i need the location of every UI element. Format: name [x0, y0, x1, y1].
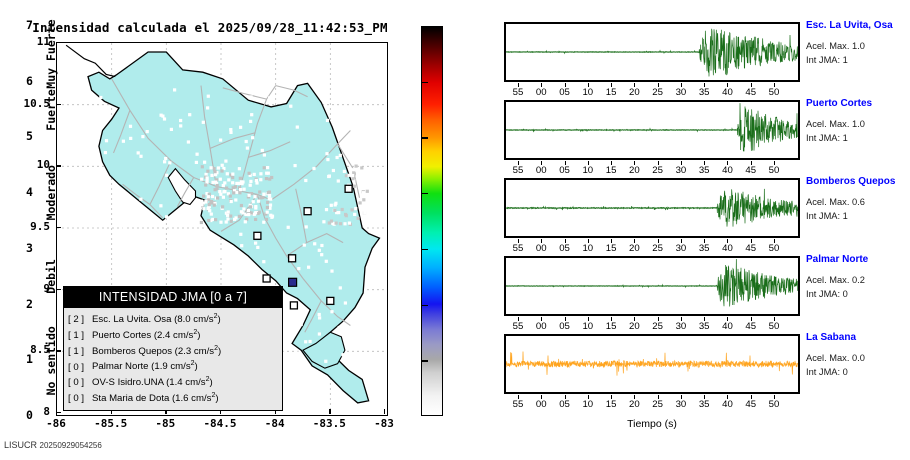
time-axis-label: Tiempo (s): [504, 418, 800, 430]
map-x-tick-label: -83.5: [299, 417, 359, 430]
station-accel-max: Acel. Max. 0.0: [806, 351, 910, 365]
waveform-panel[interactable]: [504, 334, 800, 394]
waveform-time-axis: 550005101520253035404550: [504, 239, 800, 255]
legend-station-list: [ 2 ]Esc. La Uvita. Osa (8.0 cm/s2)[ 1 ]…: [64, 308, 282, 410]
station-int-jma: Int JMA: 1: [806, 131, 910, 145]
station-accel-max: Acel. Max. 1.0: [806, 39, 910, 53]
legend-row: [ 0 ]Palmar Norte (1.9 cm/s2): [68, 358, 280, 374]
colorbar-tick-label: 5: [26, 129, 33, 143]
station-name[interactable]: Palmar Norte: [806, 253, 910, 266]
legend-title: INTENSIDAD JMA [0 a 7]: [64, 287, 282, 308]
map-x-tick-label: -84.5: [190, 417, 250, 430]
waveform-tick-label: 50: [759, 399, 789, 410]
station-accel-max: Acel. Max. 0.2: [806, 273, 910, 287]
waveform-time-axis: 550005101520253035404550: [504, 395, 800, 411]
station-name[interactable]: La Sabana: [806, 331, 910, 344]
legend-station-name: Sta Maria de Dota (1.6 cm/s: [92, 393, 211, 404]
colorbar-tick-mark: [421, 82, 428, 83]
waveform-trace: [506, 180, 798, 236]
station-info: Palmar NorteAcel. Max. 0.2Int JMA: 0: [806, 253, 910, 301]
station-int-jma: Int JMA: 1: [806, 53, 910, 67]
map-y-tick-label: 10: [2, 158, 50, 171]
colorbar-tick-label: 1: [26, 352, 33, 366]
station-name[interactable]: Bomberos Quepos: [806, 175, 910, 188]
waveform-panel[interactable]: [504, 178, 800, 238]
waveform-panel[interactable]: [504, 256, 800, 316]
legend-station-name: Puerto Cortes (2.4 cm/s: [92, 330, 193, 341]
map-x-tick-label: -83: [354, 417, 414, 430]
legend-paren: ): [197, 330, 200, 341]
colorbar-category-label: Fuerte: [44, 82, 58, 138]
colorbar-category-label: No sentido: [44, 305, 58, 416]
waveform-time-axis: 550005101520253035404550: [504, 83, 800, 99]
colorbar-tick-label: 2: [26, 297, 33, 311]
waveform-panel[interactable]: [504, 22, 800, 82]
map-x-tick-label: -85: [135, 417, 195, 430]
waveform-trace: [506, 336, 798, 392]
legend-level: [ 1 ]: [68, 330, 92, 343]
legend-level: [ 1 ]: [68, 346, 92, 359]
colorbar-tick-label: 3: [26, 241, 33, 255]
map-y-tick-label: 11: [2, 35, 50, 48]
map-x-tick-label: -85.5: [81, 417, 141, 430]
station-info: Esc. La Uvita, OsaAcel. Max. 1.0Int JMA:…: [806, 19, 910, 67]
legend-row: [ 1 ]Bomberos Quepos (2.3 cm/s2): [68, 343, 280, 359]
legend-level: [ 0 ]: [68, 377, 92, 390]
intensity-legend: INTENSIDAD JMA [0 a 7] [ 2 ]Esc. La Uvit…: [63, 286, 283, 411]
legend-station-name: Palmar Norte (1.9 cm/s: [92, 362, 191, 373]
station-accel-max: Acel. Max. 1.0: [806, 117, 910, 131]
legend-row: [ 2 ]Esc. La Uvita. Osa (8.0 cm/s2): [68, 311, 280, 327]
colorbar-tick-label: 0: [26, 408, 33, 422]
waveform-time-axis: 550005101520253035404550: [504, 161, 800, 177]
waveform-panel[interactable]: [504, 100, 800, 160]
map-x-tick-label: -86: [26, 417, 86, 430]
legend-paren: ): [215, 393, 218, 404]
colorbar-tick-mark: [421, 360, 428, 361]
map-x-tick-mark: [329, 409, 330, 414]
intensity-colorbar: [421, 26, 443, 416]
page-title: Intensidad calculada el 2025/09/28_11:42…: [0, 20, 420, 35]
waveform-tick-label: 50: [759, 165, 789, 176]
watermark-source: LISUCR: [4, 440, 37, 450]
station-name[interactable]: Puerto Cortes: [806, 97, 910, 110]
station-info: Puerto CortesAcel. Max. 1.0Int JMA: 1: [806, 97, 910, 145]
colorbar-gradient: [421, 26, 443, 416]
watermark-id: 20250929054256: [40, 441, 102, 450]
waveform-tick-label: 50: [759, 321, 789, 332]
waveform-trace: [506, 258, 798, 314]
watermark: LISUCR 20250929054256: [4, 440, 102, 450]
colorbar-tick-label: 7: [26, 18, 33, 32]
legend-paren: ): [209, 377, 212, 388]
map-y-tick-label: 9: [2, 282, 50, 295]
station-int-jma: Int JMA: 0: [806, 365, 910, 379]
colorbar-tick-mark: [421, 193, 428, 194]
map-x-tick-mark: [384, 409, 385, 414]
map-y-tick-label: 9.5: [2, 220, 50, 233]
station-int-jma: Int JMA: 1: [806, 209, 910, 223]
waveform-trace: [506, 24, 798, 80]
legend-station-name: Esc. La Uvita. Osa (8.0 cm/s: [92, 314, 214, 325]
colorbar-tick-mark: [421, 137, 428, 138]
legend-level: [ 0 ]: [68, 393, 92, 406]
colorbar-tick-mark: [421, 249, 428, 250]
legend-row: [ 0 ]OV-S Isidro.UNA (1.4 cm/s2): [68, 374, 280, 390]
station-info: Bomberos QueposAcel. Max. 0.6Int JMA: 1: [806, 175, 910, 223]
legend-paren: ): [218, 346, 221, 357]
colorbar-category-label: Debil: [44, 249, 58, 305]
legend-station-name: OV-S Isidro.UNA (1.4 cm/s: [92, 377, 206, 388]
legend-row: [ 0 ]Sta Maria de Dota (1.6 cm/s2): [68, 390, 280, 406]
map-x-tick-label: -84: [245, 417, 305, 430]
waveform-time-axis: 550005101520253035404550: [504, 317, 800, 333]
station-int-jma: Int JMA: 0: [806, 287, 910, 301]
legend-level: [ 2 ]: [68, 314, 92, 327]
waveform-trace: [506, 102, 798, 158]
station-info: La SabanaAcel. Max. 0.0Int JMA: 0: [806, 331, 910, 379]
legend-paren: ): [195, 362, 198, 373]
colorbar-category-label: Muy Fuerte: [44, 26, 58, 82]
colorbar-category-label: Moderado: [44, 137, 58, 248]
colorbar-tick-label: 6: [26, 74, 33, 88]
colorbar-tick-label: 4: [26, 185, 33, 199]
station-name[interactable]: Esc. La Uvita, Osa: [806, 19, 910, 32]
legend-station-name: Bomberos Quepos (2.3 cm/s: [92, 346, 214, 357]
waveform-tick-label: 50: [759, 243, 789, 254]
map-y-tick-label: 10.5: [2, 97, 50, 110]
legend-row: [ 1 ]Puerto Cortes (2.4 cm/s2): [68, 327, 280, 343]
waveform-tick-label: 50: [759, 87, 789, 98]
legend-paren: ): [217, 314, 220, 325]
station-accel-max: Acel. Max. 0.6: [806, 195, 910, 209]
colorbar-tick-mark: [421, 305, 428, 306]
legend-level: [ 0 ]: [68, 362, 92, 375]
